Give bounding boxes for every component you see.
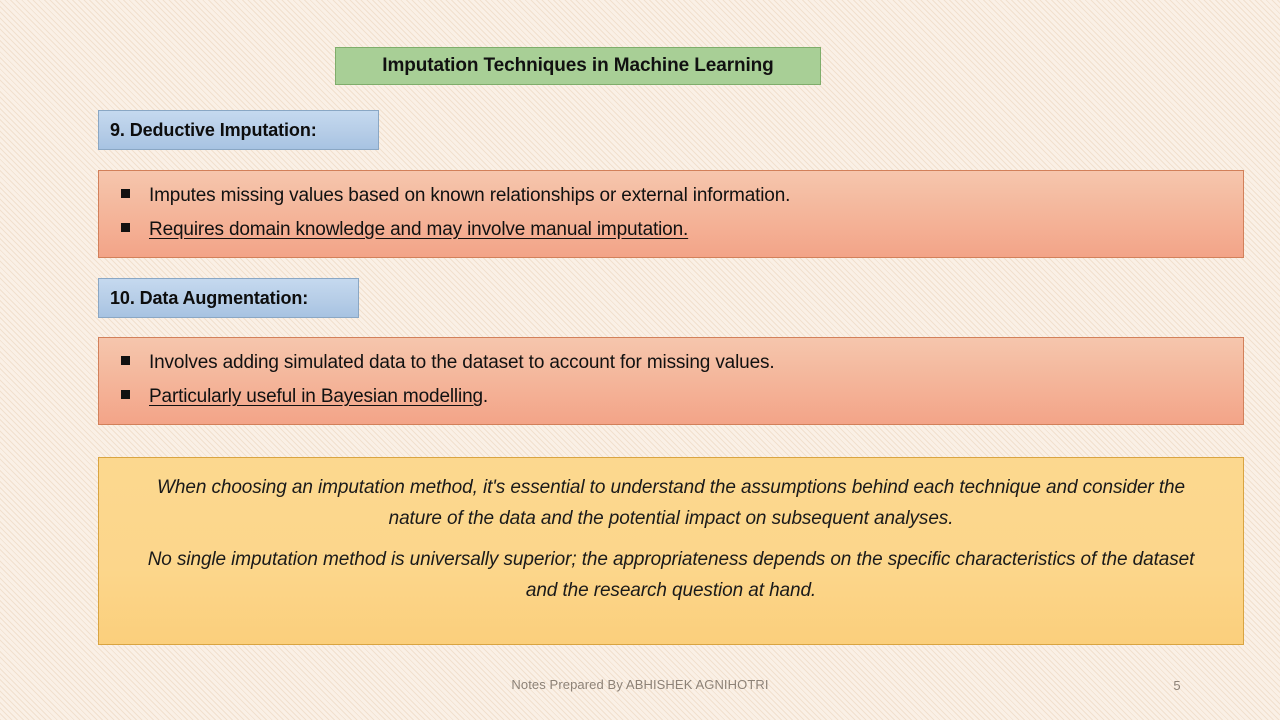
square-bullet-icon	[121, 223, 130, 232]
slide-title-banner: Imputation Techniques in Machine Learnin…	[335, 47, 821, 85]
footer-note: Notes Prepared By ABHISHEK AGNIHOTRI	[0, 677, 1280, 692]
list-item: Imputes missing values based on known re…	[113, 181, 1229, 215]
page-number: 5	[1150, 678, 1204, 693]
list-item-label: Involves adding simulated data to the da…	[149, 348, 774, 378]
list-item-label: Requires domain knowledge and may involv…	[149, 215, 688, 245]
section-content-deductive-imputation: Imputes missing values based on known re…	[98, 170, 1244, 258]
list-item: Involves adding simulated data to the da…	[113, 348, 1229, 382]
summary-paragraph-1: When choosing an imputation method, it's…	[135, 472, 1207, 534]
list-item-trailing: .	[483, 382, 488, 412]
square-bullet-icon	[121, 356, 130, 365]
summary-paragraph-2: No single imputation method is universal…	[135, 544, 1207, 606]
slide-canvas: Imputation Techniques in Machine Learnin…	[0, 0, 1280, 720]
square-bullet-icon	[121, 390, 130, 399]
section-heading-data-augmentation: 10. Data Augmentation:	[98, 278, 359, 318]
page-title: Imputation Techniques in Machine Learnin…	[382, 55, 773, 77]
square-bullet-icon	[121, 189, 130, 198]
section-heading-label: 9. Deductive Imputation:	[110, 120, 317, 141]
section-heading-label: 10. Data Augmentation:	[110, 288, 308, 309]
list-item: Particularly useful in Bayesian modellin…	[113, 382, 1229, 416]
section-content-data-augmentation: Involves adding simulated data to the da…	[98, 337, 1244, 425]
section-heading-deductive-imputation: 9. Deductive Imputation:	[98, 110, 379, 150]
list-item-label: Imputes missing values based on known re…	[149, 181, 790, 211]
summary-callout: When choosing an imputation method, it's…	[98, 457, 1244, 645]
list-item-label: Particularly useful in Bayesian modellin…	[149, 382, 483, 412]
list-item: Requires domain knowledge and may involv…	[113, 215, 1229, 249]
